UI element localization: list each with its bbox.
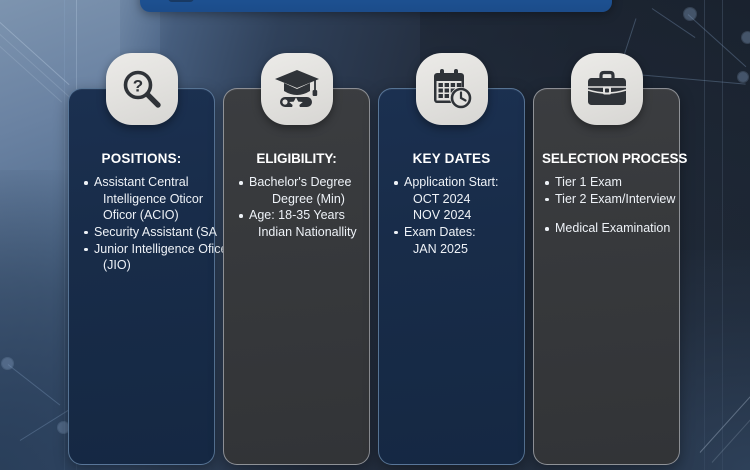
decor-vertical-line bbox=[722, 0, 723, 470]
list-item: Security Assistant (SA bbox=[83, 224, 206, 241]
banner-badge bbox=[168, 0, 194, 2]
decor-network-node bbox=[742, 32, 750, 43]
poster-canvas: ? POSITIONS: Assistant Central Intellige… bbox=[0, 0, 750, 470]
card-eligibility[interactable]: ELIGIBILITY: Bachelor's Degree Degree (M… bbox=[223, 88, 370, 465]
list-item: NOV 2024 bbox=[393, 207, 516, 224]
decor-network-node bbox=[738, 72, 748, 82]
top-banner bbox=[140, 0, 612, 12]
list-item: Tier 2 Exam/Interview bbox=[544, 191, 671, 208]
card-title: KEY DATES bbox=[387, 151, 516, 166]
list-item: Degree (Min) bbox=[238, 191, 361, 208]
list-item: Tier 1 Exam bbox=[544, 174, 671, 191]
list-item: Assistant Central bbox=[83, 174, 206, 191]
list-item: JAN 2025 bbox=[393, 241, 516, 258]
list-item: Age: 18-35 Years bbox=[238, 207, 361, 224]
list-item: Oficor (ACIO) bbox=[83, 207, 206, 224]
list-item: Bachelor's Degree bbox=[238, 174, 361, 191]
card-bullets: Tier 1 Exam Tier 2 Exam/Interview Medica… bbox=[542, 174, 671, 237]
card-title: POSITIONS: bbox=[77, 151, 206, 166]
list-item: Indian Nationallity bbox=[238, 224, 361, 241]
list-item: Exam Dates: bbox=[393, 224, 516, 241]
card-bullets: Bachelor's Degree Degree (Min) Age: 18-3… bbox=[232, 174, 361, 241]
card-key-dates[interactable]: KEY DATES Application Start: OCT 2024 NO… bbox=[378, 88, 525, 465]
info-card-row: ? POSITIONS: Assistant Central Intellige… bbox=[68, 88, 683, 465]
card-positions[interactable]: ? POSITIONS: Assistant Central Intellige… bbox=[68, 88, 215, 465]
svg-text:?: ? bbox=[132, 77, 142, 96]
list-item: OCT 2024 bbox=[393, 191, 516, 208]
card-title: SELECTION PROCESS bbox=[542, 151, 671, 166]
list-item: Intelligence Oticor bbox=[83, 191, 206, 208]
magnifier-question-icon: ? bbox=[106, 53, 178, 125]
calendar-clock-icon bbox=[416, 53, 488, 125]
decor-vertical-line bbox=[64, 0, 65, 470]
list-spacer bbox=[544, 207, 671, 220]
list-item: Junior Intelligence Oficer bbox=[83, 241, 206, 258]
card-bullets: Application Start: OCT 2024 NOV 2024 Exa… bbox=[387, 174, 516, 257]
decor-vertical-line bbox=[704, 0, 705, 470]
list-item: Medical Examination bbox=[544, 220, 671, 237]
card-bullets: Assistant Central Intelligence Oticor Of… bbox=[77, 174, 206, 274]
graduation-cap-icon bbox=[261, 53, 333, 125]
briefcase-icon bbox=[571, 53, 643, 125]
list-item: Application Start: bbox=[393, 174, 516, 191]
list-item: (JIO) bbox=[83, 257, 206, 274]
card-title: ELIGIBILITY: bbox=[232, 151, 361, 166]
card-selection-process[interactable]: SELECTION PROCESS Tier 1 Exam Tier 2 Exa… bbox=[533, 88, 680, 465]
decor-network-node bbox=[684, 8, 696, 20]
